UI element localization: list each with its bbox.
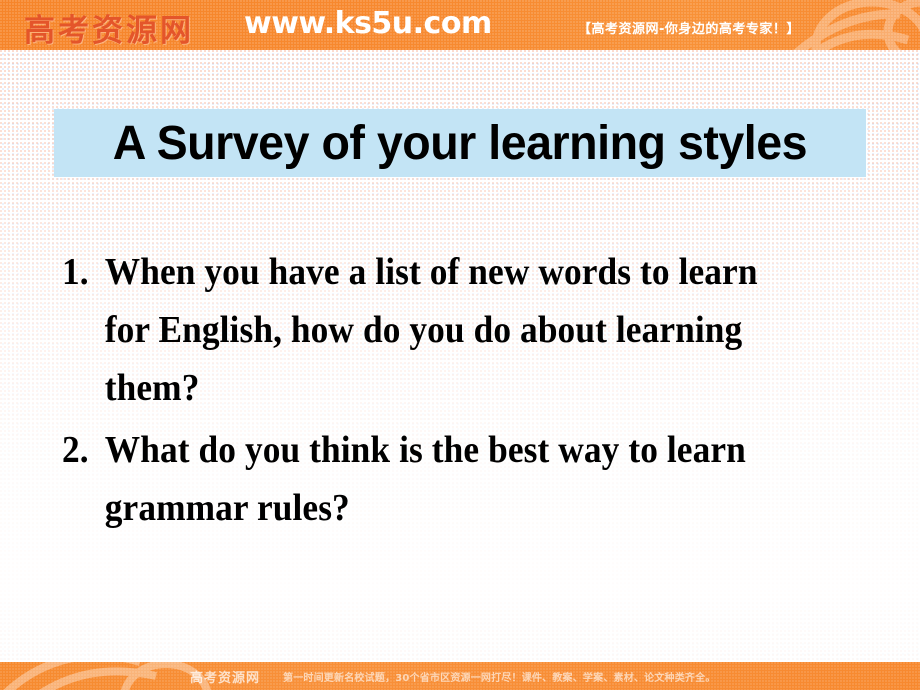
presentation-slide: 高考资源网 www.ks5u.com 【高考资源网-你身边的高考专家！】 A S…	[0, 0, 920, 690]
slide-title-box: A Survey of your learning styles	[54, 109, 866, 177]
question-text-1: When you have a list of new words to lea…	[105, 251, 758, 409]
slide-title: A Survey of your learning styles	[113, 116, 807, 171]
footer-logo-text: 高考资源网	[190, 667, 260, 686]
site-logo-text: 高考资源网	[24, 5, 194, 50]
question-item-2: 2. What do you think is the best way to …	[62, 421, 806, 537]
question-text-2: What do you think is the best way to lea…	[105, 429, 746, 529]
site-url-text[interactable]: www.ks5u.com	[244, 6, 492, 41]
footer-description: 第一时间更新名校试题，30个省市区资源一网打尽！课件、教案、学案、素材、论文种类…	[283, 669, 716, 684]
question-number-2: 2.	[62, 421, 89, 479]
site-tagline: 【高考资源网-你身边的高考专家！】	[578, 18, 800, 37]
site-footer-banner: 高考资源网 第一时间更新名校试题，30个省市区资源一网打尽！课件、教案、学案、素…	[0, 662, 920, 690]
question-list: 1. When you have a list of new words to …	[62, 243, 862, 541]
site-header-banner: 高考资源网 www.ks5u.com 【高考资源网-你身边的高考专家！】	[0, 0, 920, 50]
question-number-1: 1.	[62, 243, 89, 301]
question-item-1: 1. When you have a list of new words to …	[62, 243, 806, 417]
